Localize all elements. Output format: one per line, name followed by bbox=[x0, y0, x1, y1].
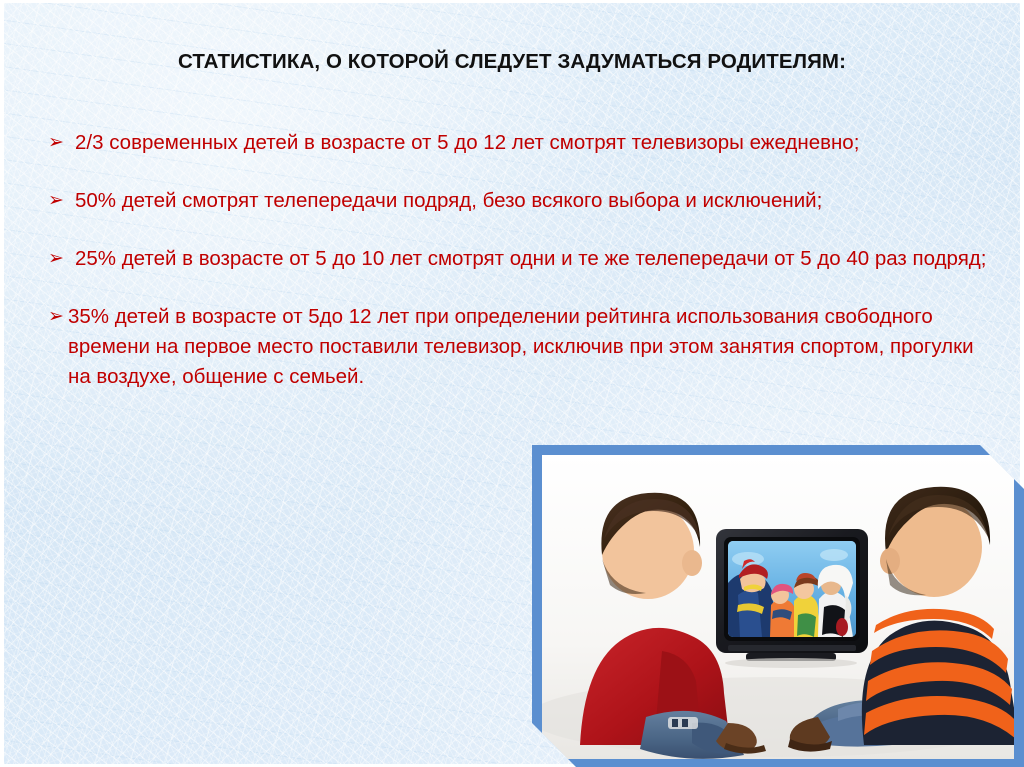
list-item-text: 50% детей смотрят телепередачи подряд, б… bbox=[48, 186, 988, 216]
list-item: ➢ 50% детей смотрят телепередачи подряд,… bbox=[48, 186, 988, 216]
list-item: ➢ 2/3 современных детей в возрасте от 5 … bbox=[48, 128, 988, 158]
list-item: ➢ 35% детей в возрасте от 5до 12 лет при… bbox=[48, 302, 988, 392]
bullet-arrow-icon: ➢ bbox=[48, 302, 64, 332]
list-item-text: 25% детей в возрасте от 5 до 10 лет смот… bbox=[48, 244, 988, 274]
page-title: СТАТИСТИКА, О КОТОРОЙ СЛЕДУЕТ ЗАДУМАТЬСЯ… bbox=[0, 50, 1024, 74]
tv-set bbox=[716, 529, 868, 668]
bullet-arrow-icon: ➢ bbox=[48, 186, 64, 216]
list-item-text: 2/3 современных детей в возрасте от 5 до… bbox=[48, 128, 988, 158]
list-item: ➢ 25% детей в возрасте от 5 до 10 лет см… bbox=[48, 244, 988, 274]
presentation-slide: СТАТИСТИКА, О КОТОРОЙ СЛЕДУЕТ ЗАДУМАТЬСЯ… bbox=[0, 0, 1024, 767]
photo-image bbox=[542, 455, 1014, 759]
photo-frame bbox=[532, 445, 1024, 767]
bullet-list: ➢ 2/3 современных детей в возрасте от 5 … bbox=[48, 128, 988, 420]
list-item-text: 35% детей в возрасте от 5до 12 лет при о… bbox=[48, 302, 988, 392]
bullet-arrow-icon: ➢ bbox=[48, 244, 64, 274]
children-watching-tv-illustration bbox=[542, 455, 1014, 759]
bullet-arrow-icon: ➢ bbox=[48, 128, 64, 158]
